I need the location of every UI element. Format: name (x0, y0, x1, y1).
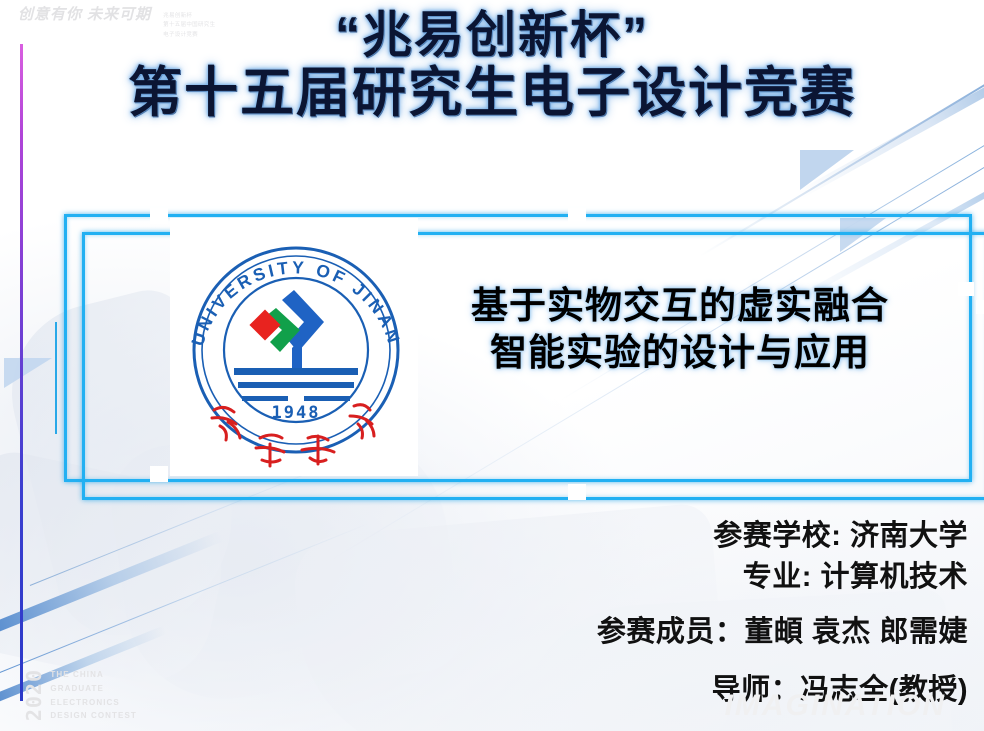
frame-gap (150, 466, 168, 482)
frame-gap (568, 208, 586, 224)
footer-en-line4: DESIGN CONTEST (50, 709, 137, 723)
header-brand-lockup: 创意有你 未来可期 兆易创新杯 第十五届中国研究生 电子设计竞赛 (18, 6, 215, 40)
team-info-block: 参赛学校: 济南大学 专业: 计算机技术 参赛成员：董頔 袁杰 郎需婕 导师：冯… (208, 516, 968, 711)
diagonal-streak-icon (0, 625, 167, 708)
background-watermark-shape (0, 445, 238, 695)
background-watermark-shape (515, 589, 954, 731)
contest-title: “兆易创新杯” 第十五届研究生电子设计竞赛 (0, 8, 984, 126)
triangle-icon (4, 358, 52, 388)
project-title-line1: 基于实物交互的虚实融合 (440, 282, 920, 329)
footer-year: 2020 (25, 669, 43, 721)
frame-gap (150, 208, 168, 224)
advisor-line: 导师：冯志全(教授) (208, 670, 968, 711)
diagonal-line-icon (700, 39, 984, 257)
background-gradient (0, 0, 984, 731)
frame-gap (958, 282, 974, 296)
left-accent-line-secondary (55, 322, 57, 434)
university-of-jinan-logo: UNIVERSITY OF JINAN 1948 (176, 222, 416, 472)
imagination-watermark: IMAGINATION (725, 689, 946, 723)
footer-en-line3: ELECTRONICS (50, 696, 137, 710)
left-accent-line (20, 44, 23, 701)
footer-en-line2: GRADUATE (50, 682, 137, 696)
diagonal-line-icon (330, 158, 984, 561)
school-line: 参赛学校: 济南大学 (208, 516, 968, 557)
contest-title-line2: 第十五届研究生电子设计竞赛 (0, 62, 984, 126)
triangle-icon (800, 150, 854, 190)
frame-gap (568, 484, 586, 500)
contest-title-line1: “兆易创新杯” (0, 8, 984, 62)
frame-gap (976, 300, 984, 314)
diagonal-streak-icon (0, 531, 223, 639)
background-watermark-shape (291, 502, 729, 731)
diagonal-streak-icon (789, 140, 984, 305)
project-title: 基于实物交互的虚实融合 智能实验的设计与应用 (440, 282, 920, 377)
footer-en-line1: THE CHINA (50, 668, 137, 682)
footer-english-lines: THE CHINA GRADUATE ELECTRONICS DESIGN CO… (50, 668, 137, 723)
major-line: 专业: 计算机技术 (208, 557, 968, 598)
diagonal-line-icon (560, 112, 984, 402)
diagonal-streak-icon (798, 31, 984, 199)
footer-contest-lockup: 2020 THE CHINA GRADUATE ELECTRONICS DESI… (25, 668, 137, 723)
project-title-line2: 智能实验的设计与应用 (440, 329, 920, 376)
diagonal-line-icon (0, 523, 370, 682)
presentation-slide: 创意有你 未来可期 兆易创新杯 第十五届中国研究生 电子设计竞赛 “兆易创新杯”… (0, 0, 984, 731)
header-sub-line3: 电子设计竞赛 (163, 31, 215, 40)
triangle-icon (840, 218, 886, 252)
header-sub-lockup: 兆易创新杯 第十五届中国研究生 电子设计竞赛 (163, 6, 215, 40)
header-sub-line2: 第十五届中国研究生 (163, 21, 215, 30)
header-sub-line1: 兆易创新杯 (163, 12, 215, 21)
header-slogan: 创意有你 未来可期 (18, 6, 151, 24)
members-line: 参赛成员：董頔 袁杰 郎需婕 (208, 612, 968, 653)
logo-founded-year: 1948 (272, 403, 321, 423)
